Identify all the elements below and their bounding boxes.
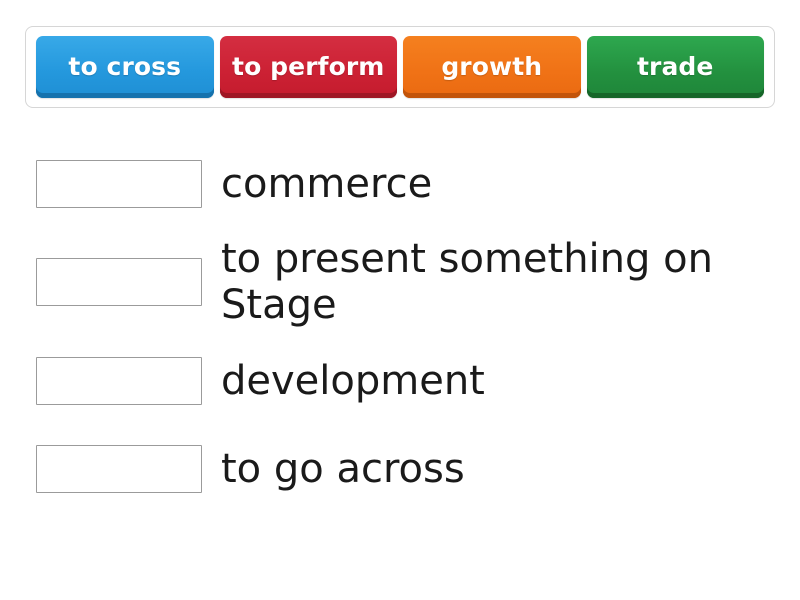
question-row: commerce bbox=[0, 140, 800, 228]
answer-drop-slot-2[interactable] bbox=[36, 258, 202, 306]
word-bank: to cross to perform growth trade bbox=[25, 26, 775, 108]
question-row: to go across bbox=[0, 425, 800, 513]
question-list: commerce to present something on Stage d… bbox=[0, 140, 800, 513]
answer-drop-slot-1[interactable] bbox=[36, 160, 202, 208]
answer-drop-slot-4[interactable] bbox=[36, 445, 202, 493]
definition-text-1: commerce bbox=[221, 161, 800, 207]
word-tile-to-perform[interactable]: to perform bbox=[220, 36, 398, 98]
answer-drop-slot-3[interactable] bbox=[36, 357, 202, 405]
definition-text-4: to go across bbox=[221, 446, 800, 492]
definition-text-3: development bbox=[221, 358, 800, 404]
question-row: to present something on Stage bbox=[0, 228, 800, 337]
definition-text-2: to present something on Stage bbox=[221, 236, 800, 329]
word-tile-to-cross[interactable]: to cross bbox=[36, 36, 214, 98]
word-tile-growth[interactable]: growth bbox=[403, 36, 581, 98]
word-tile-trade[interactable]: trade bbox=[587, 36, 765, 98]
question-row: development bbox=[0, 337, 800, 425]
